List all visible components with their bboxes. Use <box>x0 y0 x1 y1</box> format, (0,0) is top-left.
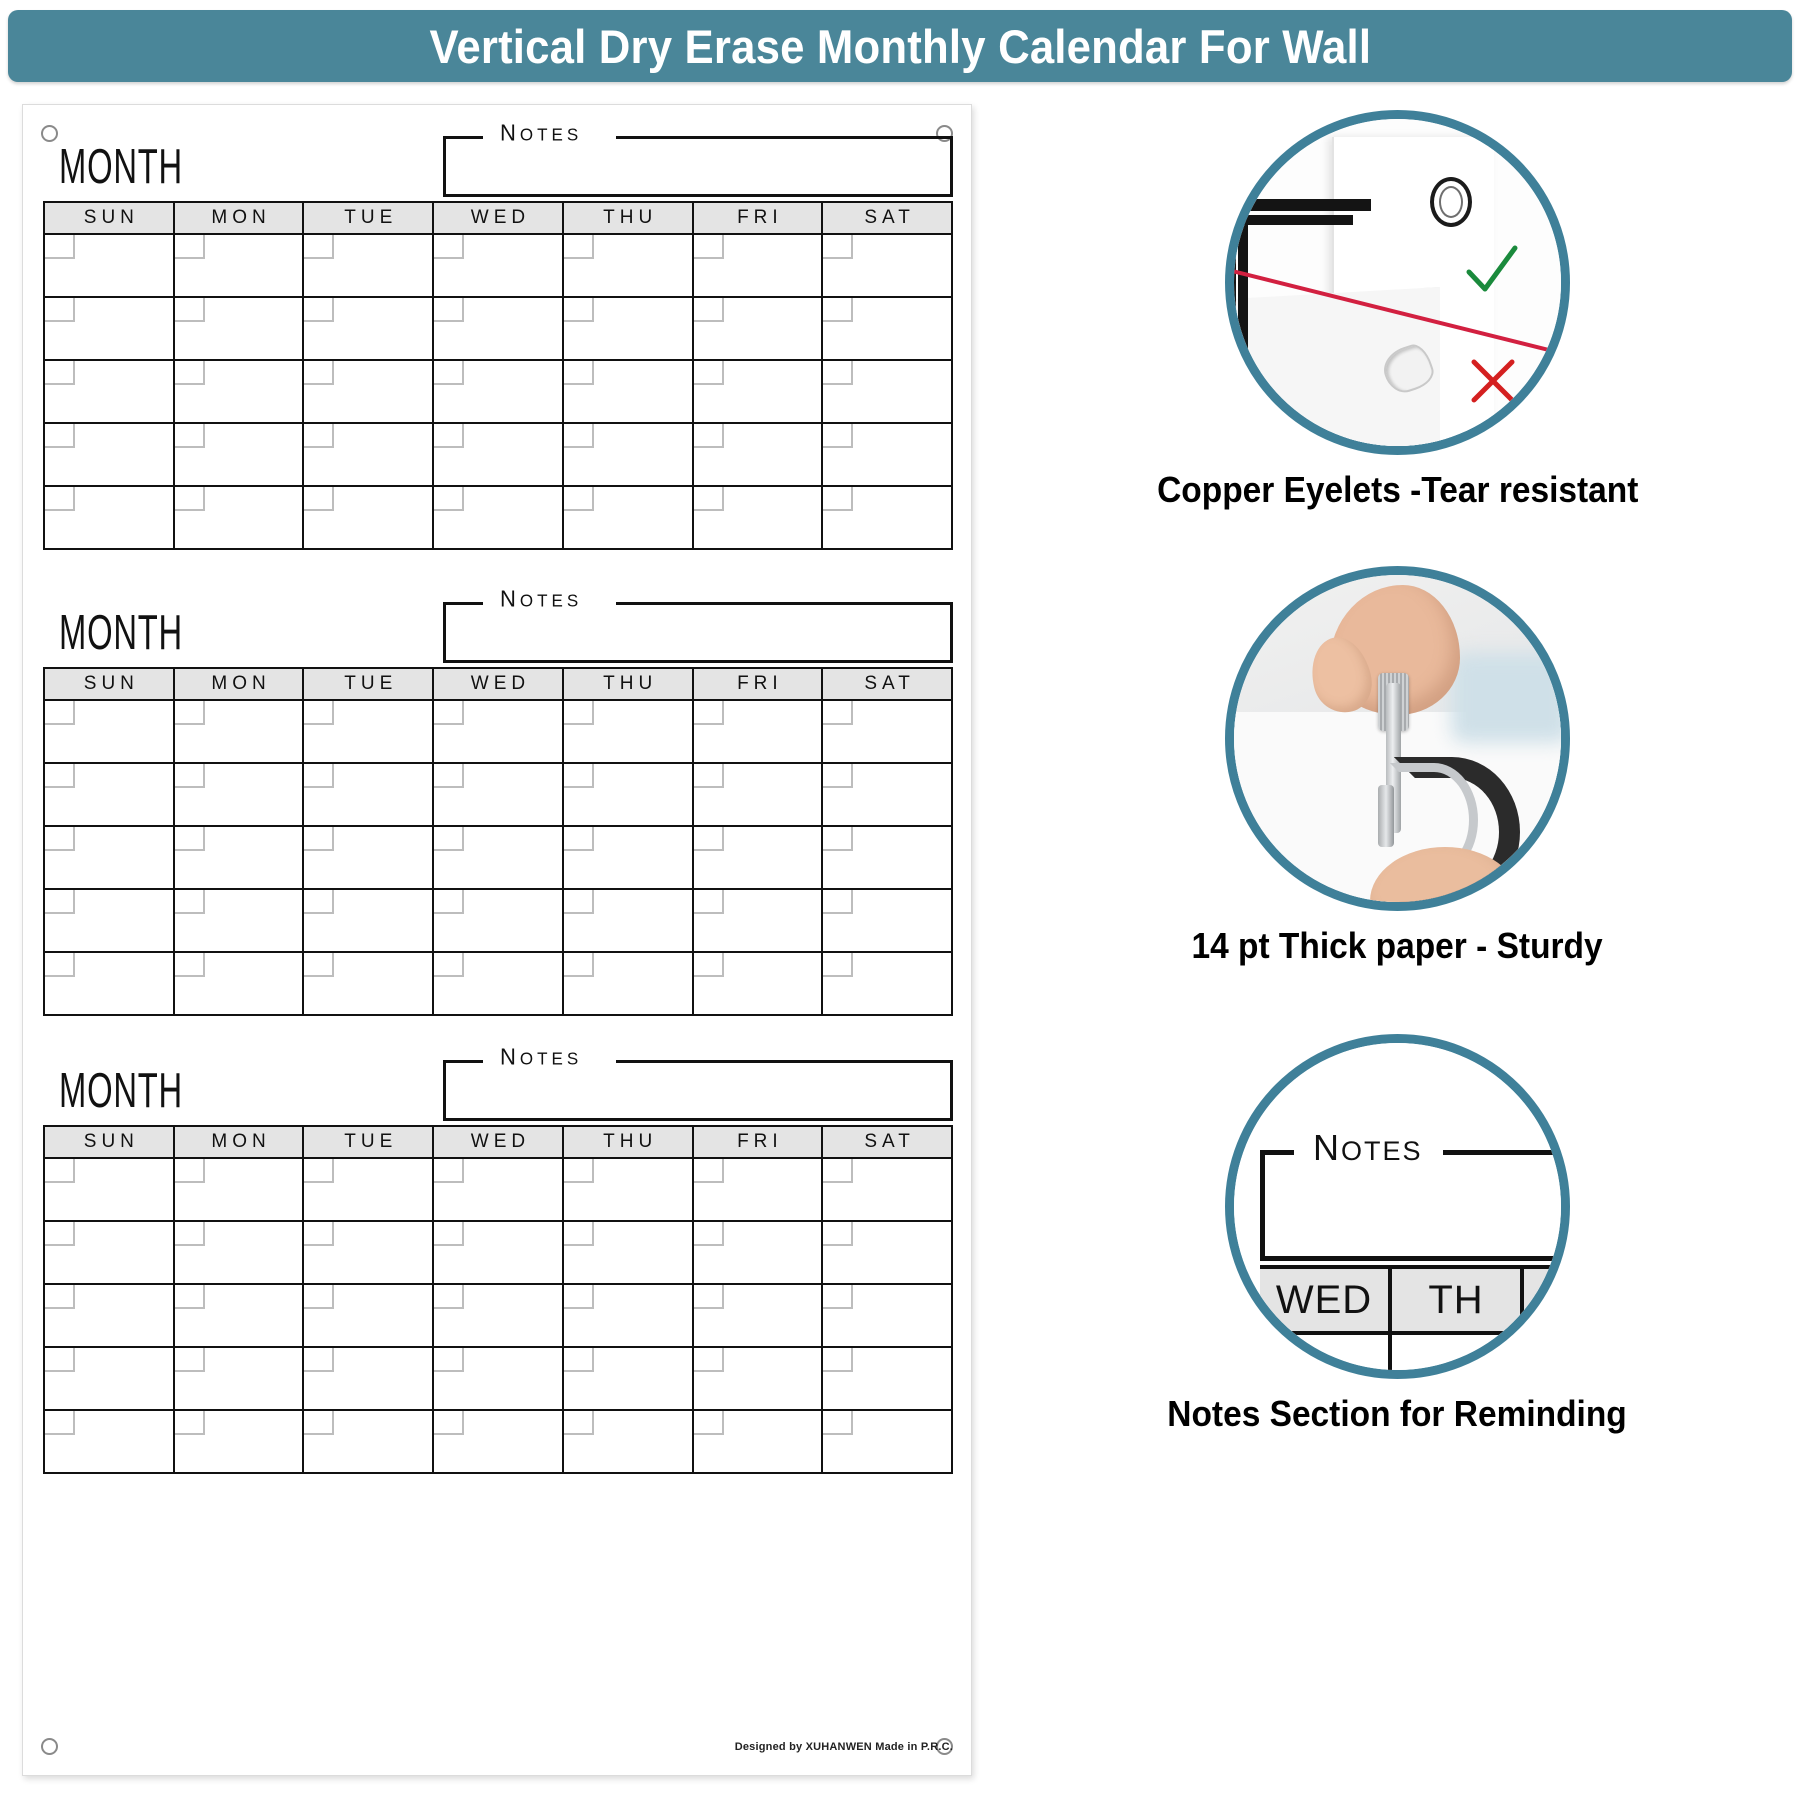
day-number-box[interactable] <box>434 1159 464 1183</box>
feature-notes-section: NOTES WED TH Notes Section for Reminding <box>995 1034 1800 1435</box>
day-number-box[interactable] <box>694 1222 724 1246</box>
zoomed-weekday-thu: TH <box>1392 1269 1524 1331</box>
calendar-day-cell[interactable] <box>44 234 174 297</box>
day-number-box[interactable] <box>823 424 853 448</box>
feature-image-notes-section: NOTES WED TH <box>1225 1034 1570 1379</box>
weekday-header-wed: WED <box>433 202 563 234</box>
feature-copper-eyelets: Copper Eyelets -Tear resistant <box>995 110 1800 511</box>
notes-border-left-2 <box>443 602 483 605</box>
calendar-body-1 <box>44 234 952 549</box>
month-block-2: MONTH NOTES SUNMONTUEWEDTHUFRISAT <box>43 595 953 1016</box>
feature-caption-copper-eyelets: Copper Eyelets -Tear resistant <box>1157 469 1638 511</box>
weekday-header-sun: SUN <box>44 668 174 700</box>
day-number-box[interactable] <box>175 953 205 977</box>
day-number-box[interactable] <box>434 235 464 259</box>
day-number-box[interactable] <box>175 1348 205 1372</box>
calendar-day-cell[interactable] <box>693 297 823 360</box>
background-blur <box>1451 653 1570 743</box>
calendar-day-cell[interactable] <box>303 826 433 889</box>
day-number-box[interactable] <box>45 361 75 385</box>
day-number-box[interactable] <box>304 827 334 851</box>
day-number-box[interactable] <box>823 1159 853 1183</box>
calendar-day-cell[interactable] <box>44 486 174 549</box>
calendar-day-cell[interactable] <box>174 826 304 889</box>
calendar-day-cell[interactable] <box>174 700 304 763</box>
designer-credit: Designed by XUHANWEN Made in P.R.C. <box>23 1741 953 1753</box>
calendar-day-cell[interactable] <box>303 952 433 1015</box>
calendar-day-cell[interactable] <box>822 1410 952 1473</box>
day-number-box[interactable] <box>304 1348 334 1372</box>
day-number-box[interactable] <box>564 701 594 725</box>
day-number-box[interactable] <box>823 298 853 322</box>
day-number-box[interactable] <box>564 953 594 977</box>
calendar-day-cell[interactable] <box>822 486 952 549</box>
calendar-day-cell[interactable] <box>433 1347 563 1410</box>
day-number-box[interactable] <box>304 1411 334 1435</box>
calendar-day-cell[interactable] <box>303 700 433 763</box>
day-number-box[interactable] <box>45 827 75 851</box>
day-number-box[interactable] <box>694 1411 724 1435</box>
calendar-day-cell[interactable] <box>174 1347 304 1410</box>
calendar-day-cell[interactable] <box>433 486 563 549</box>
calendar-day-cell[interactable] <box>44 1158 174 1221</box>
calendar-day-cell[interactable] <box>563 700 693 763</box>
calendar-day-cell[interactable] <box>174 360 304 423</box>
weekday-header-wed: WED <box>433 668 563 700</box>
day-number-box[interactable] <box>45 1285 75 1309</box>
calendar-day-cell[interactable] <box>174 763 304 826</box>
calendar-day-cell[interactable] <box>433 360 563 423</box>
day-number-box[interactable] <box>823 361 853 385</box>
day-number-box[interactable] <box>434 1222 464 1246</box>
calendar-day-cell[interactable] <box>303 486 433 549</box>
calendar-day-cell[interactable] <box>303 360 433 423</box>
calendar-day-cell[interactable] <box>303 763 433 826</box>
calendar-day-cell[interactable] <box>563 234 693 297</box>
day-number-box[interactable] <box>694 424 724 448</box>
month-header-2: MONTH NOTES <box>43 595 953 667</box>
month-label-1: MONTH <box>59 139 183 195</box>
zoomed-weekday-row: WED TH <box>1260 1265 1570 1335</box>
calendar-day-cell[interactable] <box>44 360 174 423</box>
day-number-box[interactable] <box>434 1348 464 1372</box>
calendar-day-cell[interactable] <box>822 297 952 360</box>
notes-box-1[interactable]: NOTES <box>443 139 953 197</box>
day-number-box[interactable] <box>304 424 334 448</box>
calendar-day-cell[interactable] <box>693 826 823 889</box>
calendar-day-cell[interactable] <box>174 1158 304 1221</box>
month-block-1: MONTH NOTES SUNMONTUEWEDTHUFRISAT <box>43 129 953 550</box>
notes-border-left-3 <box>443 1060 483 1063</box>
weekday-header-sat: SAT <box>822 202 952 234</box>
zoomed-notes-box: NOTES <box>1260 1155 1570 1261</box>
day-number-box[interactable] <box>564 424 594 448</box>
weekday-header-sun: SUN <box>44 1126 174 1158</box>
calendar-day-cell[interactable] <box>693 952 823 1015</box>
day-number-box[interactable] <box>304 764 334 788</box>
calendar-day-cell[interactable] <box>44 952 174 1015</box>
calendar-week-row <box>44 763 952 826</box>
calendar-grid-2: SUNMONTUEWEDTHUFRISAT <box>43 667 953 1016</box>
calendar-day-cell[interactable] <box>174 423 304 486</box>
zoomed-grid-line-2 <box>1516 1327 1520 1379</box>
day-number-box[interactable] <box>45 235 75 259</box>
feature-image-thick-paper <box>1225 566 1570 911</box>
day-number-box[interactable] <box>564 487 594 511</box>
day-number-box[interactable] <box>434 487 464 511</box>
calendar-day-cell[interactable] <box>433 234 563 297</box>
black-border-inner <box>1238 215 1353 455</box>
day-number-box[interactable] <box>175 1411 205 1435</box>
day-number-box[interactable] <box>45 424 75 448</box>
calendar-day-cell[interactable] <box>822 889 952 952</box>
day-number-box[interactable] <box>694 1348 724 1372</box>
feature-column: Copper Eyelets -Tear resistant 14 pt Thi… <box>995 104 1800 1794</box>
notes-border-right-3 <box>616 1060 953 1063</box>
calendar-day-cell[interactable] <box>303 423 433 486</box>
calendar-day-cell[interactable] <box>563 1284 693 1347</box>
weekday-header-row-1: SUNMONTUEWEDTHUFRISAT <box>44 202 952 234</box>
day-number-box[interactable] <box>823 764 853 788</box>
weekday-header-sun: SUN <box>44 202 174 234</box>
day-number-box[interactable] <box>823 1348 853 1372</box>
weekday-header-sat: SAT <box>822 1126 952 1158</box>
month-header-1: MONTH NOTES <box>43 129 953 201</box>
calendar-day-cell[interactable] <box>303 1221 433 1284</box>
calendar-week-row <box>44 1410 952 1473</box>
zoomed-weekday-wed: WED <box>1260 1269 1392 1331</box>
day-number-box[interactable] <box>564 298 594 322</box>
day-number-box[interactable] <box>823 487 853 511</box>
calendar-day-cell[interactable] <box>822 826 952 889</box>
calendar-day-cell[interactable] <box>433 826 563 889</box>
calendar-week-row <box>44 486 952 549</box>
day-number-box[interactable] <box>823 1411 853 1435</box>
calendar-day-cell[interactable] <box>174 952 304 1015</box>
calendar-day-cell[interactable] <box>174 1410 304 1473</box>
copper-eyelet-icon <box>1430 177 1472 227</box>
calendar-week-row <box>44 1284 952 1347</box>
calendar-day-cell[interactable] <box>303 1347 433 1410</box>
day-number-box[interactable] <box>304 1285 334 1309</box>
calendar-day-cell[interactable] <box>693 763 823 826</box>
calendar-week-row <box>44 826 952 889</box>
calendar-day-cell[interactable] <box>174 889 304 952</box>
calendar-day-cell[interactable] <box>44 889 174 952</box>
calendar-grid-3: SUNMONTUEWEDTHUFRISAT <box>43 1125 953 1474</box>
calendar-day-cell[interactable] <box>693 234 823 297</box>
red-x-icon <box>1469 357 1517 405</box>
day-number-box[interactable] <box>694 890 724 914</box>
day-number-box[interactable] <box>564 827 594 851</box>
day-number-box[interactable] <box>564 890 594 914</box>
day-number-box[interactable] <box>45 1348 75 1372</box>
calendar-day-cell[interactable] <box>693 1347 823 1410</box>
calendar-body-3 <box>44 1158 952 1473</box>
calendar-day-cell[interactable] <box>433 763 563 826</box>
calendar-day-cell[interactable] <box>44 826 174 889</box>
calendar-day-cell[interactable] <box>822 234 952 297</box>
day-number-box[interactable] <box>434 361 464 385</box>
calendar-day-cell[interactable] <box>433 1284 563 1347</box>
notes-border-left-1 <box>443 136 483 139</box>
calendar-day-cell[interactable] <box>303 1284 433 1347</box>
calendar-day-cell[interactable] <box>433 889 563 952</box>
day-number-box[interactable] <box>434 890 464 914</box>
notes-border-right-1 <box>616 136 953 139</box>
day-number-box[interactable] <box>564 1285 594 1309</box>
calendar-day-cell[interactable] <box>563 1347 693 1410</box>
feature-image-copper-eyelets <box>1225 110 1570 455</box>
day-number-box[interactable] <box>823 890 853 914</box>
day-number-box[interactable] <box>694 235 724 259</box>
day-number-box[interactable] <box>304 298 334 322</box>
day-number-box[interactable] <box>434 953 464 977</box>
calendar-day-cell[interactable] <box>563 360 693 423</box>
calendar-day-cell[interactable] <box>693 889 823 952</box>
day-number-box[interactable] <box>304 361 334 385</box>
day-number-box[interactable] <box>823 235 853 259</box>
day-number-box[interactable] <box>175 424 205 448</box>
notes-border-right-2 <box>616 602 953 605</box>
calendar-day-cell[interactable] <box>822 1284 952 1347</box>
notes-label-3: NOTES <box>494 1043 588 1070</box>
calendar-day-cell[interactable] <box>693 486 823 549</box>
calendar-day-cell[interactable] <box>563 1410 693 1473</box>
feature-caption-notes-section: Notes Section for Reminding <box>1168 1393 1627 1435</box>
calendar-day-cell[interactable] <box>433 1221 563 1284</box>
day-number-box[interactable] <box>823 953 853 977</box>
day-number-box[interactable] <box>175 487 205 511</box>
day-number-box[interactable] <box>45 890 75 914</box>
day-number-box[interactable] <box>564 764 594 788</box>
weekday-header-wed: WED <box>433 1126 563 1158</box>
day-number-box[interactable] <box>434 424 464 448</box>
calendar-day-cell[interactable] <box>44 1347 174 1410</box>
day-number-box[interactable] <box>175 764 205 788</box>
calendar-day-cell[interactable] <box>693 700 823 763</box>
day-number-box[interactable] <box>175 827 205 851</box>
calendar-day-cell[interactable] <box>44 700 174 763</box>
calendar-sheet: MONTH NOTES SUNMONTUEWEDTHUFRISAT MONTH … <box>22 104 972 1776</box>
weekday-header-thu: THU <box>563 668 693 700</box>
calendar-day-cell[interactable] <box>563 297 693 360</box>
calendar-day-cell[interactable] <box>433 1158 563 1221</box>
calendar-day-cell[interactable] <box>822 1221 952 1284</box>
weekday-header-mon: MON <box>174 1126 304 1158</box>
zoomed-grid-line-1 <box>1388 1327 1392 1379</box>
feature-thick-paper: 14 pt Thick paper - Sturdy <box>995 566 1800 967</box>
calendar-day-cell[interactable] <box>174 1221 304 1284</box>
micrometer-anvil <box>1378 785 1394 847</box>
day-number-box[interactable] <box>45 953 75 977</box>
calendar-week-row <box>44 952 952 1015</box>
day-number-box[interactable] <box>564 361 594 385</box>
day-number-box[interactable] <box>564 1411 594 1435</box>
calendar-day-cell[interactable] <box>563 763 693 826</box>
calendar-day-cell[interactable] <box>693 1410 823 1473</box>
day-number-box[interactable] <box>434 1285 464 1309</box>
calendar-day-cell[interactable] <box>174 1284 304 1347</box>
day-number-box[interactable] <box>304 1222 334 1246</box>
calendar-day-cell[interactable] <box>822 423 952 486</box>
day-number-box[interactable] <box>823 1222 853 1246</box>
calendar-day-cell[interactable] <box>563 1158 693 1221</box>
calendar-day-cell[interactable] <box>303 1410 433 1473</box>
calendar-day-cell[interactable] <box>822 360 952 423</box>
day-number-box[interactable] <box>434 1411 464 1435</box>
day-number-box[interactable] <box>175 701 205 725</box>
calendar-day-cell[interactable] <box>44 1221 174 1284</box>
day-number-box[interactable] <box>45 1222 75 1246</box>
day-number-box[interactable] <box>175 361 205 385</box>
zoomed-cells <box>1260 1327 1570 1370</box>
weekday-header-sat: SAT <box>822 668 952 700</box>
day-number-box[interactable] <box>694 1285 724 1309</box>
weekday-header-tue: TUE <box>303 668 433 700</box>
day-number-box[interactable] <box>694 764 724 788</box>
weekday-header-tue: TUE <box>303 202 433 234</box>
month-header-3: MONTH NOTES <box>43 1053 953 1125</box>
feature-caption-thick-paper: 14 pt Thick paper - Sturdy <box>1192 925 1603 967</box>
calendar-week-row <box>44 360 952 423</box>
day-number-box[interactable] <box>694 701 724 725</box>
calendar-week-row <box>44 297 952 360</box>
calendar-day-cell[interactable] <box>563 423 693 486</box>
day-number-box[interactable] <box>564 1348 594 1372</box>
day-number-box[interactable] <box>564 235 594 259</box>
calendar-day-cell[interactable] <box>303 889 433 952</box>
day-number-box[interactable] <box>45 1159 75 1183</box>
calendar-day-cell[interactable] <box>44 1284 174 1347</box>
calendar-day-cell[interactable] <box>563 486 693 549</box>
day-number-box[interactable] <box>45 487 75 511</box>
calendar-day-cell[interactable] <box>563 889 693 952</box>
weekday-header-thu: THU <box>563 202 693 234</box>
calendar-day-cell[interactable] <box>822 700 952 763</box>
zoomed-notes-label: NOTES <box>1305 1127 1431 1169</box>
day-number-box[interactable] <box>434 827 464 851</box>
calendar-body-2 <box>44 700 952 1015</box>
calendar-day-cell[interactable] <box>433 952 563 1015</box>
weekday-header-fri: FRI <box>693 668 823 700</box>
day-number-box[interactable] <box>564 1222 594 1246</box>
calendar-day-cell[interactable] <box>303 297 433 360</box>
day-number-box[interactable] <box>304 701 334 725</box>
notes-box-2[interactable]: NOTES <box>443 605 953 663</box>
day-number-box[interactable] <box>45 701 75 725</box>
calendar-day-cell[interactable] <box>44 423 174 486</box>
weekday-header-row-3: SUNMONTUEWEDTHUFRISAT <box>44 1126 952 1158</box>
calendar-day-cell[interactable] <box>693 1284 823 1347</box>
banner: Vertical Dry Erase Monthly Calendar For … <box>8 10 1792 82</box>
zoomed-notes-border-right <box>1443 1150 1570 1155</box>
day-number-box[interactable] <box>175 890 205 914</box>
day-number-box[interactable] <box>823 1285 853 1309</box>
calendar-day-cell[interactable] <box>693 360 823 423</box>
calendar-week-row <box>44 234 952 297</box>
day-number-box[interactable] <box>304 487 334 511</box>
day-number-box[interactable] <box>694 1159 724 1183</box>
day-number-box[interactable] <box>175 235 205 259</box>
day-number-box[interactable] <box>434 764 464 788</box>
calendar-week-row <box>44 889 952 952</box>
calendar-day-cell[interactable] <box>822 1158 952 1221</box>
calendar-day-cell[interactable] <box>44 763 174 826</box>
day-number-box[interactable] <box>175 1222 205 1246</box>
day-number-box[interactable] <box>434 701 464 725</box>
day-number-box[interactable] <box>564 1159 594 1183</box>
calendar-day-cell[interactable] <box>563 826 693 889</box>
calendar-day-cell[interactable] <box>563 952 693 1015</box>
calendar-week-row <box>44 1221 952 1284</box>
day-number-box[interactable] <box>175 298 205 322</box>
day-number-box[interactable] <box>694 361 724 385</box>
calendar-week-row <box>44 700 952 763</box>
day-number-box[interactable] <box>45 764 75 788</box>
banner-title: Vertical Dry Erase Monthly Calendar For … <box>429 19 1371 74</box>
weekday-header-tue: TUE <box>303 1126 433 1158</box>
calendar-day-cell[interactable] <box>174 297 304 360</box>
calendar-week-row <box>44 423 952 486</box>
day-number-box[interactable] <box>304 1159 334 1183</box>
day-number-box[interactable] <box>694 298 724 322</box>
weekday-header-mon: MON <box>174 668 304 700</box>
notes-box-3[interactable]: NOTES <box>443 1063 953 1121</box>
calendar-day-cell[interactable] <box>433 423 563 486</box>
calendar-day-cell[interactable] <box>822 952 952 1015</box>
day-number-box[interactable] <box>823 827 853 851</box>
month-label-3: MONTH <box>59 1063 183 1119</box>
day-number-box[interactable] <box>823 701 853 725</box>
day-number-box[interactable] <box>175 1159 205 1183</box>
day-number-box[interactable] <box>434 298 464 322</box>
notes-label-2: NOTES <box>494 585 588 612</box>
day-number-box[interactable] <box>304 890 334 914</box>
calendar-day-cell[interactable] <box>563 1221 693 1284</box>
calendar-week-row <box>44 1158 952 1221</box>
day-number-box[interactable] <box>45 1411 75 1435</box>
calendar-day-cell[interactable] <box>693 1221 823 1284</box>
month-label-2: MONTH <box>59 605 183 661</box>
day-number-box[interactable] <box>694 487 724 511</box>
calendar-day-cell[interactable] <box>303 1158 433 1221</box>
calendar-day-cell[interactable] <box>44 297 174 360</box>
day-number-box[interactable] <box>304 953 334 977</box>
calendar-day-cell[interactable] <box>693 423 823 486</box>
weekday-header-fri: FRI <box>693 1126 823 1158</box>
day-number-box[interactable] <box>694 827 724 851</box>
day-number-box[interactable] <box>45 298 75 322</box>
day-number-box[interactable] <box>304 235 334 259</box>
day-number-box[interactable] <box>694 953 724 977</box>
calendar-day-cell[interactable] <box>174 234 304 297</box>
month-block-3: MONTH NOTES SUNMONTUEWEDTHUFRISAT <box>43 1053 953 1474</box>
weekday-header-row-2: SUNMONTUEWEDTHUFRISAT <box>44 668 952 700</box>
calendar-day-cell[interactable] <box>44 1410 174 1473</box>
calendar-day-cell[interactable] <box>174 486 304 549</box>
calendar-day-cell[interactable] <box>693 1158 823 1221</box>
calendar-day-cell[interactable] <box>822 1347 952 1410</box>
calendar-day-cell[interactable] <box>433 1410 563 1473</box>
calendar-day-cell[interactable] <box>303 234 433 297</box>
calendar-day-cell[interactable] <box>433 297 563 360</box>
calendar-day-cell[interactable] <box>433 700 563 763</box>
green-check-icon <box>1465 244 1519 298</box>
weekday-header-thu: THU <box>563 1126 693 1158</box>
day-number-box[interactable] <box>175 1285 205 1309</box>
calendar-day-cell[interactable] <box>822 763 952 826</box>
